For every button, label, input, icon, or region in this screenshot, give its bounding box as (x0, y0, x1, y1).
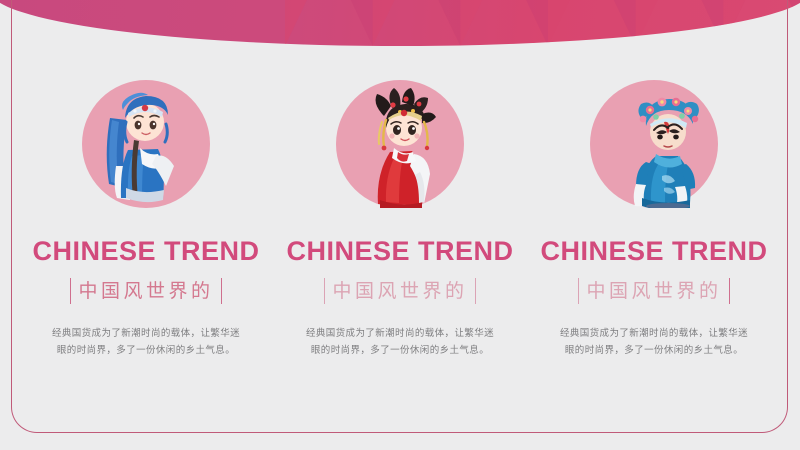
slide-canvas: CHINESE TREND 中国风世界的 经典国货成为了新潮时尚的载体，让繁华迷… (0, 0, 800, 450)
column-title: CHINESE TREND (32, 238, 259, 265)
figure-circle-3[interactable] (590, 80, 718, 208)
subtitle-left-bar (324, 278, 326, 304)
figure-circle-2[interactable] (336, 80, 464, 208)
top-decorative-banner (0, 0, 800, 46)
subtitle-right-bar (475, 278, 477, 304)
peking-opera-red-bride-icon (336, 80, 464, 208)
column-subtitle-group: 中国风世界的 (324, 278, 476, 304)
banner-triangle-pattern (285, 0, 800, 46)
content-column-3: CHINESE TREND 中国风世界的 经典国货成为了新潮时尚的载体，让繁华迷… (538, 80, 770, 359)
column-title: CHINESE TREND (286, 238, 513, 265)
peking-opera-blue-maiden-icon (82, 80, 210, 208)
column-subtitle: 中国风世界的 (586, 278, 721, 304)
subtitle-right-bar (729, 278, 731, 304)
figure-circle-1[interactable] (82, 80, 210, 208)
content-columns: CHINESE TREND 中国风世界的 经典国货成为了新潮时尚的载体，让繁华迷… (30, 80, 770, 359)
column-subtitle: 中国风世界的 (332, 278, 467, 304)
column-body-text: 经典国货成为了新潮时尚的载体，让繁华迷眼的时尚界，多了一份休闲的乡土气息。 (304, 326, 496, 359)
column-body-text: 经典国货成为了新潮时尚的载体，让繁华迷眼的时尚界，多了一份休闲的乡土气息。 (558, 326, 750, 359)
content-column-1: CHINESE TREND 中国风世界的 经典国货成为了新潮时尚的载体，让繁华迷… (30, 80, 262, 359)
peking-opera-blue-warrior-icon (590, 80, 718, 208)
column-title: CHINESE TREND (540, 238, 767, 265)
column-subtitle-group: 中国风世界的 (578, 278, 730, 304)
column-subtitle-group: 中国风世界的 (70, 278, 222, 304)
subtitle-left-bar (70, 278, 72, 304)
content-column-2: CHINESE TREND 中国风世界的 经典国货成为了新潮时尚的载体，让繁华迷… (284, 80, 516, 359)
column-body-text: 经典国货成为了新潮时尚的载体，让繁华迷眼的时尚界，多了一份休闲的乡土气息。 (50, 326, 242, 359)
subtitle-right-bar (221, 278, 223, 304)
column-subtitle: 中国风世界的 (78, 278, 213, 304)
subtitle-left-bar (578, 278, 580, 304)
